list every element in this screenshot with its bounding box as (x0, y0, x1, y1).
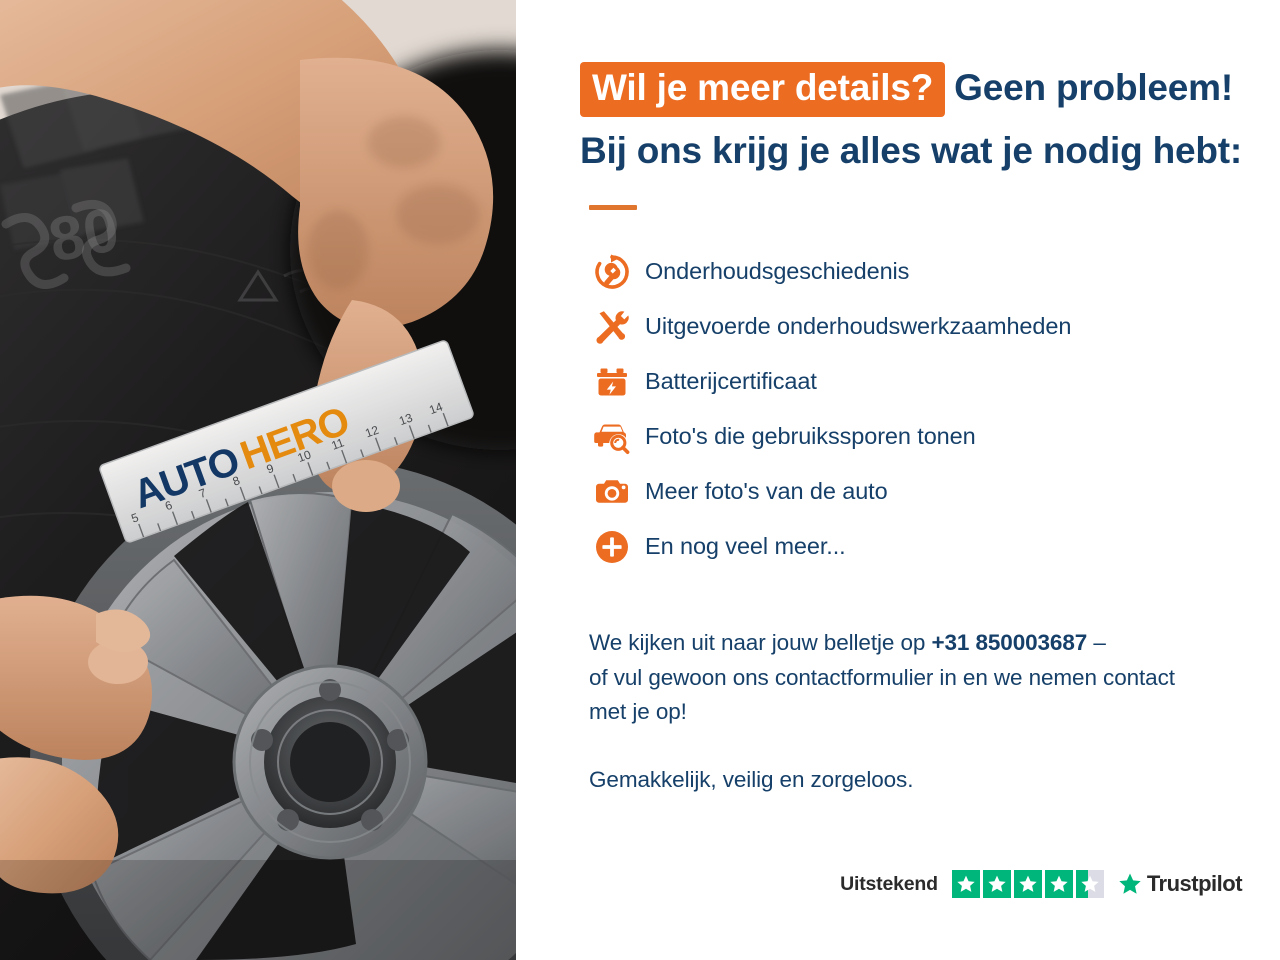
contact-line2: of vul gewoon ons contactformulier in en… (589, 665, 1175, 690)
list-item-label: Batterijcertificaat (645, 368, 817, 395)
star-icon (1014, 870, 1042, 898)
car-inspection-icon (589, 414, 635, 460)
list-item: Uitgevoerde onderhoudswerkzaamheden (589, 299, 1242, 354)
camera-icon (589, 469, 635, 515)
trustpilot-wordmark: Trustpilot (1147, 871, 1242, 897)
star-icon (952, 870, 980, 898)
page-title: Wil je meer details?Geen probleem! Bij o… (580, 62, 1242, 172)
headline-highlight: Wil je meer details? (580, 62, 945, 117)
list-item: Onderhoudsgeschiedenis (589, 244, 1242, 299)
autohero-promo-banner: 80 (0, 0, 1280, 960)
promo-content-panel: Wil je meer details?Geen probleem! Bij o… (516, 0, 1280, 960)
star-icon-partial (1076, 870, 1104, 898)
feature-list: Onderhoudsgeschiedenis Uitgevoerde onder… (589, 244, 1242, 574)
phone-number[interactable]: +31 850003687 (931, 630, 1087, 655)
headline-rest: Geen probleem! (945, 67, 1233, 109)
list-item: Foto's die gebruikssporen tonen (589, 409, 1242, 464)
accent-divider (589, 205, 637, 210)
list-item-label: Onderhoudsgeschiedenis (645, 258, 909, 285)
tools-crossed-icon (589, 304, 635, 350)
plus-circle-icon (589, 524, 635, 570)
list-item-label: Foto's die gebruikssporen tonen (645, 423, 976, 450)
contact-line1-before: We kijken uit naar jouw belletje op (589, 630, 931, 655)
list-item: Meer foto's van de auto (589, 464, 1242, 519)
trustpilot-rating-widget[interactable]: Uitstekend Trustpilot (840, 870, 1242, 898)
contact-line1-after: – (1087, 630, 1106, 655)
contact-paragraph: We kijken uit naar jouw belletje op +31 … (589, 626, 1242, 729)
list-item-label: En nog veel meer... (645, 533, 846, 560)
closing-paragraph: Gemakkelijk, veilig en zorgeloos. (589, 763, 1242, 797)
trustpilot-logo: Trustpilot (1118, 871, 1242, 897)
list-item: Batterijcertificaat (589, 354, 1242, 409)
contact-line3: met je op! (589, 699, 687, 724)
contact-text-block: We kijken uit naar jouw belletje op +31 … (589, 626, 1242, 797)
battery-icon (589, 359, 635, 405)
maintenance-history-icon (589, 249, 635, 295)
star-icon (1045, 870, 1073, 898)
tire-tread-measurement-photo: 80 (0, 0, 516, 960)
trustpilot-rating-word: Uitstekend (840, 873, 938, 896)
list-item-label: Meer foto's van de auto (645, 478, 888, 505)
list-item: En nog veel meer... (589, 519, 1242, 574)
list-item-label: Uitgevoerde onderhoudswerkzaamheden (645, 313, 1071, 340)
trustpilot-star-icon (1118, 872, 1142, 896)
star-icon (983, 870, 1011, 898)
headline-line-2: Bij ons krijg je alles wat je nodig hebt… (580, 130, 1242, 172)
trustpilot-stars (952, 870, 1104, 898)
